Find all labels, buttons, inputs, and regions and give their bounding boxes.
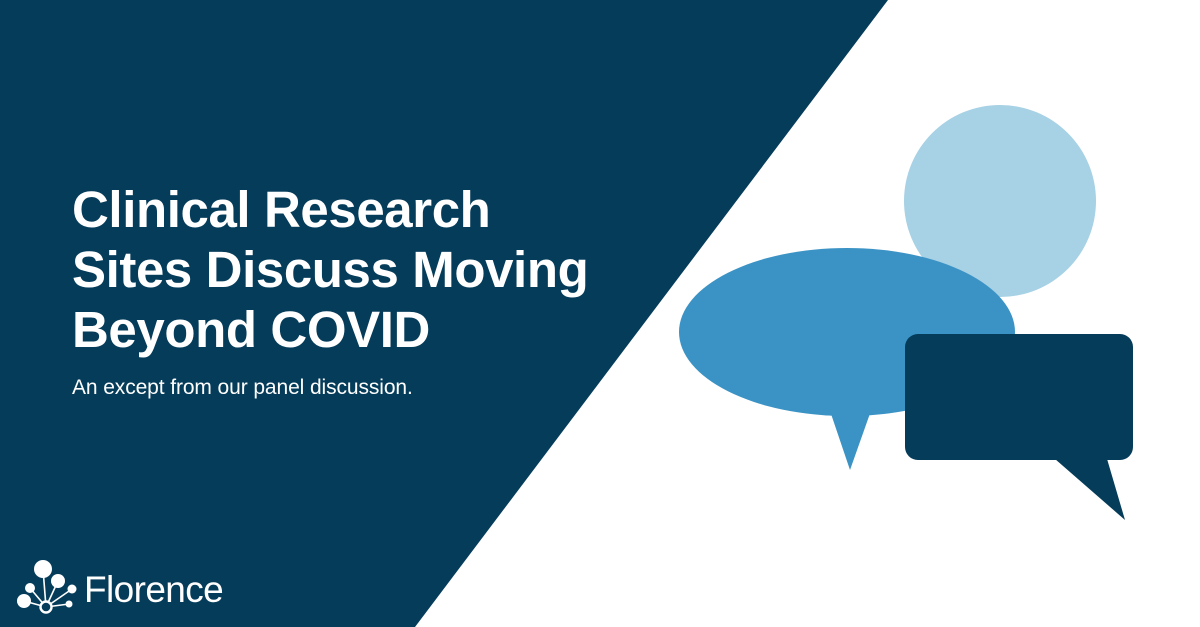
page-title: Clinical Research Sites Discuss Moving B… bbox=[72, 180, 632, 360]
headline-line-3: Beyond COVID bbox=[72, 300, 632, 360]
logo-wordmark: Florence bbox=[84, 571, 223, 608]
navy-rectangle-speech-bubble bbox=[905, 334, 1133, 520]
social-card: Clinical Research Sites Discuss Moving B… bbox=[0, 0, 1200, 627]
speech-bubbles-illustration bbox=[660, 90, 1160, 540]
subtitle: An except from our panel discussion. bbox=[72, 374, 632, 402]
brand-logo: Florence bbox=[16, 557, 223, 619]
florence-node-cluster-icon bbox=[16, 557, 82, 619]
text-block: Clinical Research Sites Discuss Moving B… bbox=[72, 180, 632, 402]
headline-line-2: Sites Discuss Moving bbox=[72, 240, 632, 300]
headline-line-1: Clinical Research bbox=[72, 180, 632, 240]
